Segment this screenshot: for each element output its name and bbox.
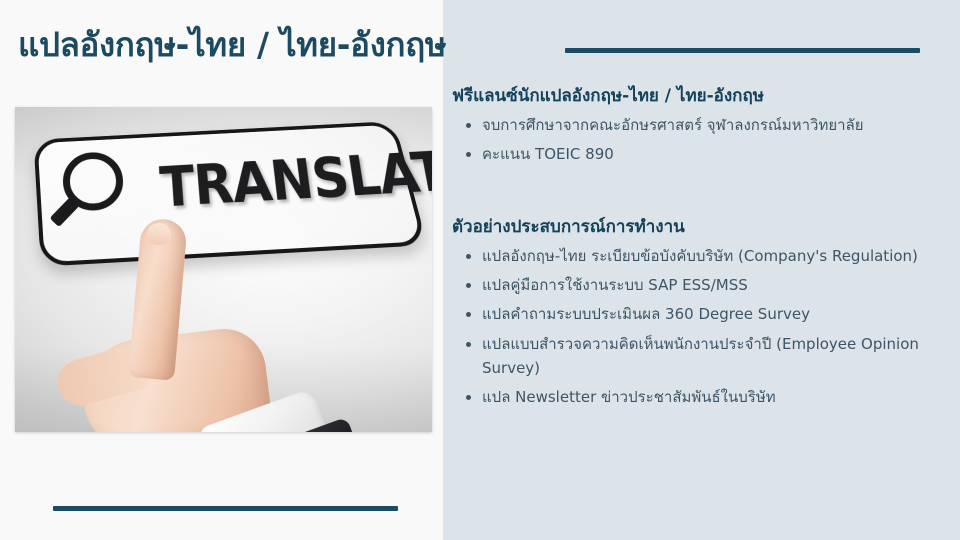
- translate-search-bar-photo: TRANSLATE: [15, 107, 432, 432]
- section-heading-experience: ตัวอย่างประสบการณ์การทำงาน: [452, 215, 932, 240]
- list-item: แปลอังกฤษ-ไทย ระเบียบข้อบังคับบริษัท (Co…: [452, 244, 932, 268]
- content-column: ฟรีแลนซ์นักแปลอังกฤษ-ไทย / ไทย-อังกฤษ จบ…: [452, 84, 932, 415]
- list-item: แปล Newsletter ข่าวประชาสัมพันธ์ในบริษัท: [452, 385, 932, 409]
- profile-bullet-list: จบการศึกษาจากคณะอักษรศาสตร์ จุฬาลงกรณ์มห…: [452, 113, 932, 167]
- list-item: คะแนน TOEIC 890: [452, 142, 932, 166]
- decorative-rule-top: [565, 48, 920, 53]
- list-item: แปลแบบสำรวจความคิดเห็นพนักงานประจำปี (Em…: [452, 332, 932, 381]
- slide-canvas: แปลอังกฤษ-ไทย / ไทย-อังกฤษ TRANSLATE ฟรี…: [0, 0, 960, 540]
- page-title: แปลอังกฤษ-ไทย / ไทย-อังกฤษ: [18, 24, 448, 65]
- list-item: แปลคำถามระบบประเมินผล 360 Degree Survey: [452, 302, 932, 326]
- decorative-rule-bottom: [53, 506, 398, 511]
- pointing-hand-icon: [75, 257, 305, 432]
- section-spacer: [452, 171, 932, 215]
- list-item: แปลคู่มือการใช้งานระบบ SAP ESS/MSS: [452, 273, 932, 297]
- experience-bullet-list: แปลอังกฤษ-ไทย ระเบียบข้อบังคับบริษัท (Co…: [452, 244, 932, 410]
- section-heading-profile: ฟรีแลนซ์นักแปลอังกฤษ-ไทย / ไทย-อังกฤษ: [452, 84, 932, 109]
- list-item: จบการศึกษาจากคณะอักษรศาสตร์ จุฬาลงกรณ์มห…: [452, 113, 932, 137]
